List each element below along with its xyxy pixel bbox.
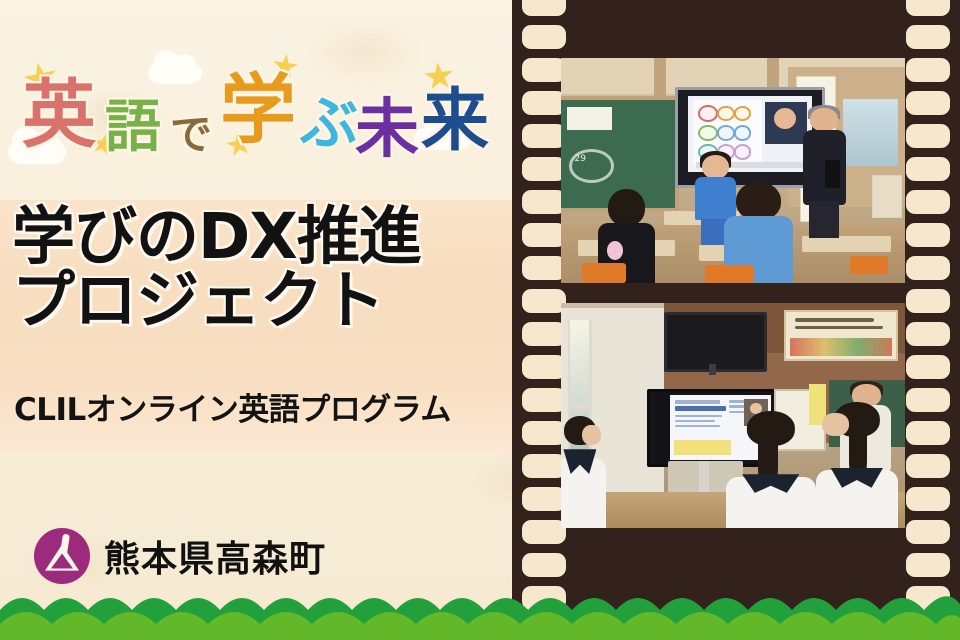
header-char-1: 英 — [22, 78, 96, 152]
film-perforation — [906, 454, 950, 478]
film-perforation — [522, 25, 566, 49]
film-perforation — [522, 124, 566, 148]
header-zone: 英 語 で 学 ぶ 未 来 — [0, 0, 512, 200]
header-char-4: 学 — [220, 72, 296, 148]
film-perforation — [906, 289, 950, 313]
header-char-2: 語 — [105, 100, 161, 156]
film-perforation — [522, 223, 566, 247]
film-perforation — [522, 58, 566, 82]
header-char-3: で — [170, 114, 212, 156]
film-perforation — [522, 388, 566, 412]
student-left — [561, 416, 606, 529]
town-name-label: 熊本県高森町 — [104, 530, 326, 582]
town-branding: 熊本県高森町 — [34, 528, 326, 584]
poster-root: 英 語 で 学 ぶ 未 来 学びのDX推進 プロジェクト CLILオンライン英語… — [0, 0, 960, 640]
film-perforation — [906, 553, 950, 577]
film-perforation — [906, 256, 950, 280]
film-perforation — [522, 0, 566, 16]
film-perforation — [906, 355, 950, 379]
left-content-column: 英 語 で 学 ぶ 未 来 学びのDX推進 プロジェクト CLILオンライン英語… — [0, 0, 512, 640]
film-perforation — [522, 289, 566, 313]
page-title: 学びのDX推進 プロジェクト — [12, 205, 512, 334]
film-perforation — [906, 25, 950, 49]
header-char-5: ぶ — [300, 94, 358, 152]
header-char-6: 未 — [355, 98, 419, 162]
film-perforation — [906, 58, 950, 82]
photo-frame-top: 29 — [561, 58, 905, 283]
film-perforation — [906, 223, 950, 247]
teacher-figure — [802, 108, 847, 239]
film-perforation — [906, 190, 950, 214]
film-perforation — [522, 355, 566, 379]
video-call-tile — [765, 102, 807, 144]
film-perforation — [522, 421, 566, 445]
header-char-7: 来 — [421, 88, 489, 156]
film-perforation — [522, 487, 566, 511]
film-perforation — [906, 157, 950, 181]
film-perforation — [522, 553, 566, 577]
film-perforation — [522, 91, 566, 115]
film-perforation — [522, 157, 566, 181]
grass-decoration — [0, 584, 960, 640]
photo-junior-high-classroom — [561, 303, 905, 528]
photo-frame-bottom — [561, 303, 905, 528]
grass-front-layer — [0, 612, 960, 640]
film-perforation — [522, 454, 566, 478]
film-perforation — [522, 322, 566, 346]
film-perforation — [906, 487, 950, 511]
film-perforation — [906, 388, 950, 412]
film-perforation — [522, 190, 566, 214]
student-right — [816, 402, 899, 528]
takamori-emblem-icon — [34, 528, 90, 584]
film-perforation — [906, 0, 950, 16]
film-perforation — [906, 322, 950, 346]
film-perforation — [906, 91, 950, 115]
student-center — [726, 411, 815, 528]
photo-elementary-classroom: 29 — [561, 58, 905, 283]
perforation-column-left — [522, 0, 566, 640]
perforation-column-right — [906, 0, 950, 640]
school-motto-banner — [784, 310, 898, 361]
film-perforation — [522, 520, 566, 544]
film-perforation — [522, 256, 566, 280]
film-perforation — [906, 421, 950, 445]
film-strip: 29 — [512, 0, 960, 640]
header-title: 英 語 で 学 ぶ 未 来 — [22, 78, 492, 174]
page-subtitle: CLILオンライン英語プログラム — [14, 393, 514, 427]
film-perforation — [906, 124, 950, 148]
film-perforation — [906, 520, 950, 544]
